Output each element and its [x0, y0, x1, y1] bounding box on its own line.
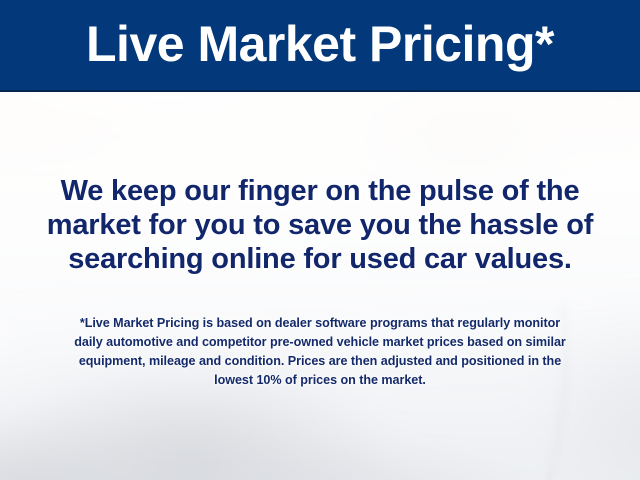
headline-line-2: market for you to save you the hassle of: [22, 208, 618, 242]
fineprint-line-4: lowest 10% of prices on the market.: [28, 371, 612, 390]
headline: We keep our finger on the pulse of the m…: [22, 174, 618, 276]
fineprint-line-3: equipment, mileage and condition. Prices…: [28, 352, 612, 371]
page-title: Live Market Pricing*: [86, 19, 554, 69]
banner-content: We keep our finger on the pulse of the m…: [0, 92, 640, 480]
headline-line-1: We keep our finger on the pulse of the: [22, 174, 618, 208]
fineprint-disclaimer: *Live Market Pricing is based on dealer …: [28, 314, 612, 390]
live-market-pricing-banner: Live Market Pricing* We keep our finger …: [0, 0, 640, 480]
headline-line-3: searching online for used car values.: [22, 242, 618, 276]
fineprint-line-2: daily automotive and competitor pre-owne…: [28, 333, 612, 352]
header-bar: Live Market Pricing*: [0, 0, 640, 92]
fineprint-line-1: *Live Market Pricing is based on dealer …: [28, 314, 612, 333]
